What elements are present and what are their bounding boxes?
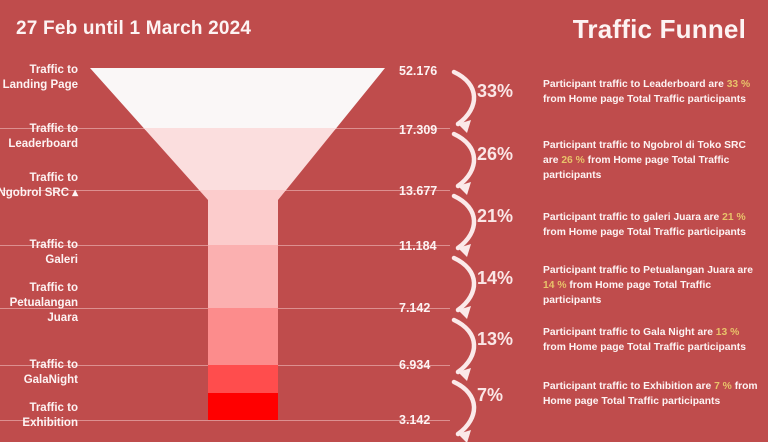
desc-text-pre: Participant traffic to Petualangan Juara… bbox=[543, 265, 753, 276]
stage-label-ngobrol-src: Traffic to Ngobrol SRC ▴ bbox=[0, 171, 78, 201]
desc-text-pre: Participant traffic to galeri Juara are bbox=[543, 212, 722, 223]
stage-value-exhibition: 3.142 bbox=[399, 413, 461, 427]
desc-text-pre: Participant traffic to Gala Night are bbox=[543, 327, 716, 338]
conversion-percent-3: 21% bbox=[477, 206, 537, 227]
desc-text-post: from Home page Total Traffic participant… bbox=[543, 342, 746, 353]
desc-highlight: 33 % bbox=[727, 79, 750, 90]
stage-label-line2: Landing Page bbox=[0, 78, 78, 93]
conversion-description-2: Participant traffic to Ngobrol di Toko S… bbox=[543, 138, 761, 183]
conversion-description-4: Participant traffic to Petualangan Juara… bbox=[543, 263, 761, 308]
desc-highlight: 7 % bbox=[714, 381, 732, 392]
conversion-percent-6: 7% bbox=[477, 385, 537, 406]
stage-label-line2: Petualangan bbox=[0, 296, 78, 311]
desc-text-post: from Home page Total Traffic participant… bbox=[543, 280, 711, 306]
desc-text-post: from Home page Total Traffic participant… bbox=[543, 94, 746, 105]
page-title: Traffic Funnel bbox=[573, 14, 746, 45]
stage-label-line2: Galeri bbox=[0, 253, 78, 268]
conversion-percent-2: 26% bbox=[477, 144, 537, 165]
stage-label-line3: Juara bbox=[0, 311, 78, 326]
stage-value-galeri: 11.184 bbox=[399, 239, 461, 253]
stage-label-line1: Traffic to bbox=[0, 401, 78, 416]
funnel-segment-exhibition bbox=[208, 393, 278, 420]
stage-label-galeri: Traffic to Galeri bbox=[0, 238, 78, 268]
stage-label-line2: Ngobrol SRC ▴ bbox=[0, 186, 78, 201]
stage-label-line1: Traffic to bbox=[0, 171, 78, 186]
stage-label-line1: Traffic to bbox=[0, 281, 78, 296]
stage-value-landing-page: 52.176 bbox=[399, 64, 461, 78]
stage-label-landing-page: Traffic to Landing Page bbox=[0, 63, 78, 93]
conversion-description-1: Participant traffic to Leaderboard are 3… bbox=[543, 77, 761, 107]
stage-label-line1: Traffic to bbox=[0, 358, 78, 373]
conversion-description-5: Participant traffic to Gala Night are 13… bbox=[543, 325, 761, 355]
stage-label-line2: GalaNight bbox=[0, 373, 78, 388]
stage-label-galanight: Traffic to GalaNight bbox=[0, 358, 78, 388]
conversion-arrow-2 bbox=[454, 134, 474, 186]
conversion-description-3: Participant traffic to galeri Juara are … bbox=[543, 210, 761, 240]
stage-value-leaderboard: 17.309 bbox=[399, 123, 461, 137]
desc-highlight: 14 % bbox=[543, 280, 566, 291]
conversion-percent-4: 14% bbox=[477, 268, 537, 289]
stage-label-exhibition: Traffic to Exhibition bbox=[0, 401, 78, 431]
desc-text-post: from Home page Total Traffic participant… bbox=[543, 227, 746, 238]
stage-value-petualangan-juara: 7.142 bbox=[399, 301, 461, 315]
stage-label-petualangan-juara: Traffic to Petualangan Juara bbox=[0, 281, 78, 326]
desc-text-pre: Participant traffic to Exhibition are bbox=[543, 381, 714, 392]
desc-text-pre: Participant traffic to Leaderboard are bbox=[543, 79, 727, 90]
desc-highlight: 26 % bbox=[561, 155, 584, 166]
conversion-percent-1: 33% bbox=[477, 81, 537, 102]
stage-label-line2: Exhibition bbox=[0, 416, 78, 431]
stage-label-line1: Traffic to bbox=[0, 238, 78, 253]
conversion-percent-5: 13% bbox=[477, 329, 537, 350]
stage-label-line2: Leaderboard bbox=[0, 137, 78, 152]
conversion-arrow-1 bbox=[454, 72, 474, 124]
stage-label-leaderboard: Traffic to Leaderboard bbox=[0, 122, 78, 152]
stage-value-ngobrol-src: 13.677 bbox=[399, 184, 461, 198]
stage-label-line1: Traffic to bbox=[0, 63, 78, 78]
desc-highlight: 21 % bbox=[722, 212, 745, 223]
conversion-description-6: Participant traffic to Exhibition are 7 … bbox=[543, 379, 761, 409]
stage-label-line1: Traffic to bbox=[0, 122, 78, 137]
stage-value-galanight: 6.934 bbox=[399, 358, 461, 372]
desc-highlight: 13 % bbox=[716, 327, 739, 338]
